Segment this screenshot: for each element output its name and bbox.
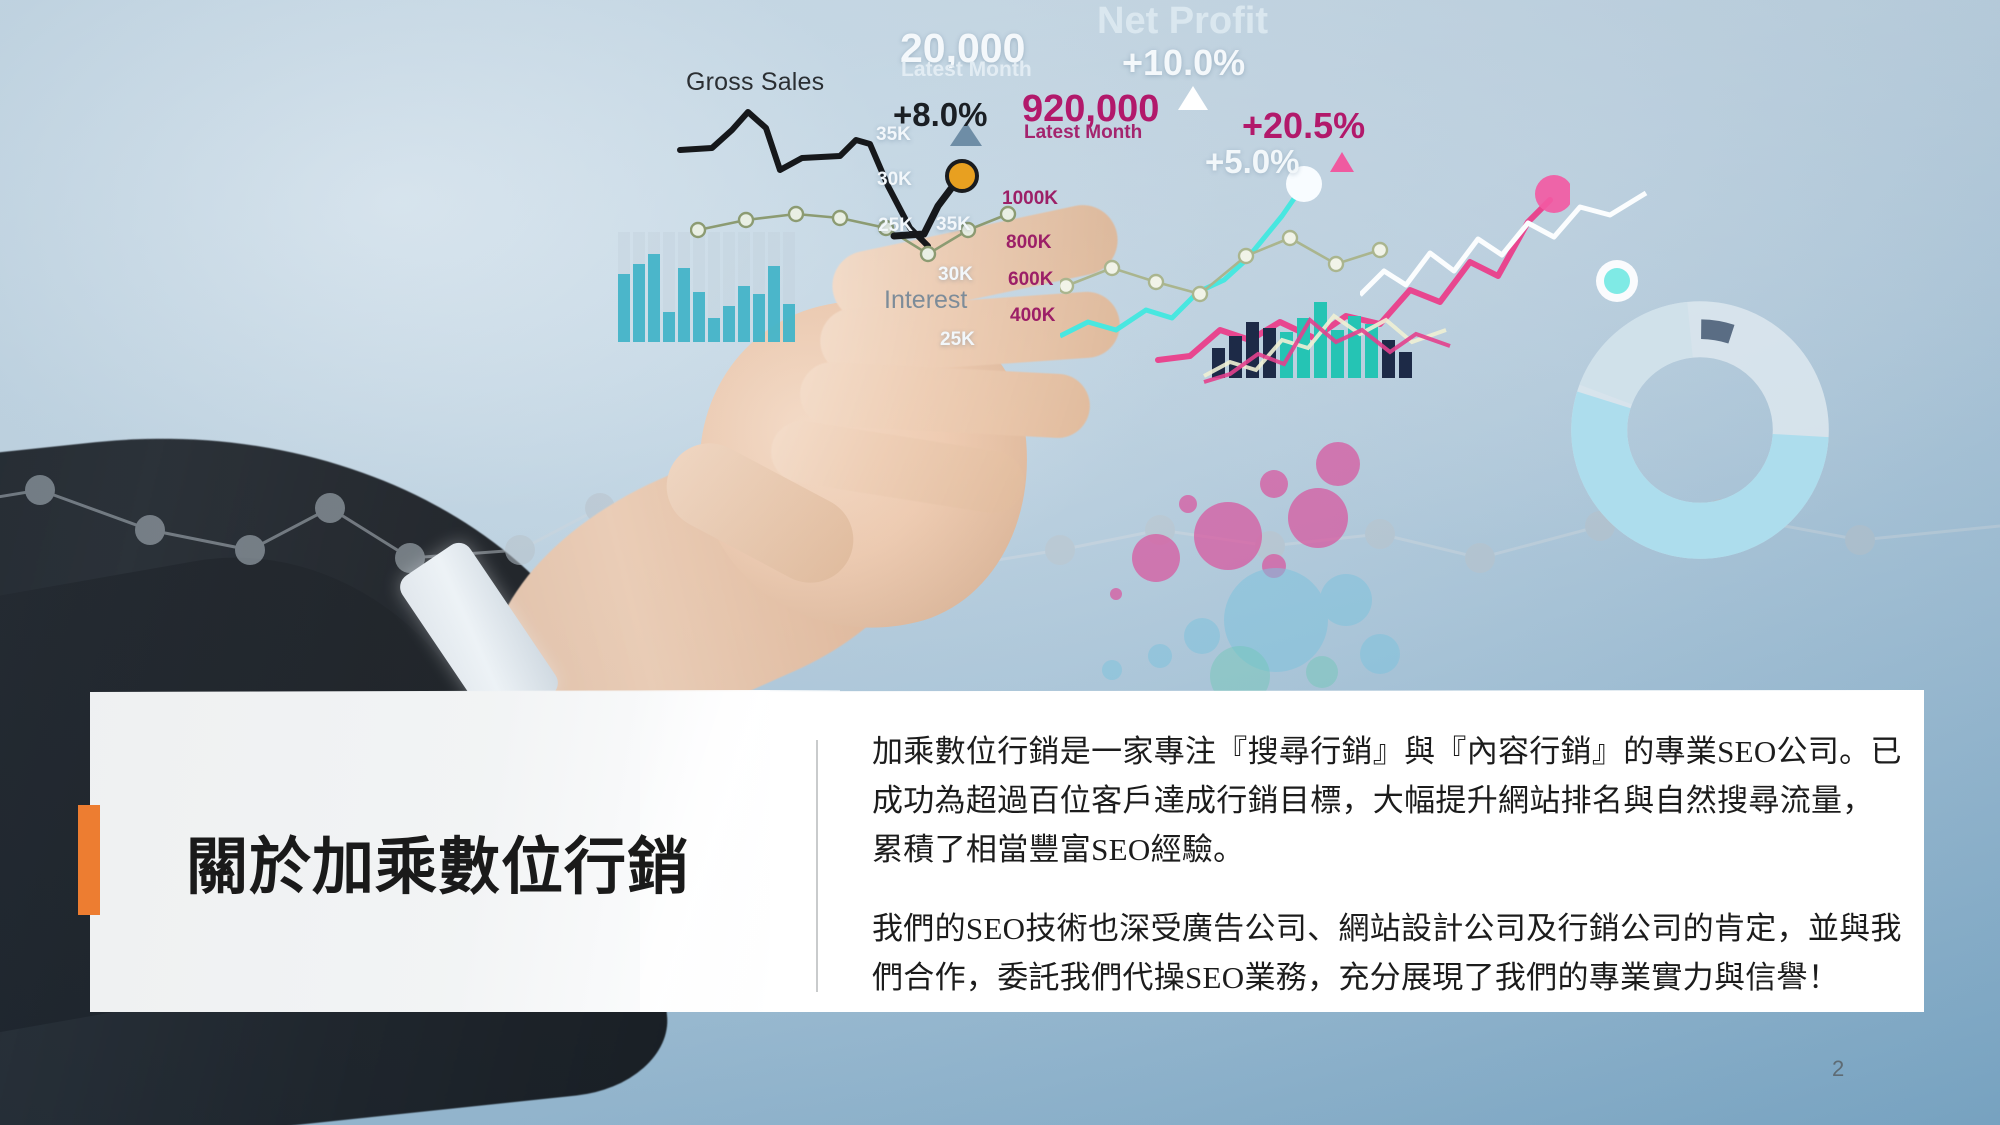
axis-tick-interest-30k: 30K (938, 264, 973, 286)
axis-tick-interest-35k: 35K (936, 214, 971, 236)
overlay-trend-lines (1200, 290, 1460, 386)
value-pct-205: +20.5% (1242, 105, 1365, 147)
value-pct-5: +5.0% (1205, 143, 1300, 181)
axis-tick-gross-35k: 35K (876, 124, 911, 146)
axis-tick-profit-800k: 800K (1006, 232, 1051, 254)
axis-tick-gross-30k: 30K (877, 169, 912, 191)
label-gross-sales: Gross Sales (686, 68, 824, 97)
axis-tick-profit-600k: 600K (1008, 269, 1053, 291)
axis-tick-gross-25k: 25K (878, 215, 913, 237)
up-triangle-pink-icon (1328, 150, 1356, 174)
page-title: 關於加乘數位行銷 (186, 834, 690, 902)
axis-tick-interest-25k: 25K (940, 329, 975, 351)
label-interest: Interest (884, 286, 967, 315)
vertical-divider (816, 740, 818, 992)
body-paragraph-2: 我們的SEO技術也深受廣告公司、網站設計公司及行銷公司的肯定，並與我們合作，委託… (872, 905, 1902, 1003)
bubble-cluster (1060, 440, 1480, 700)
body-paragraph-1: 加乘數位行銷是一家專注『搜尋行銷』與『內容行銷』的專業SEO公司。已成功為超過百… (872, 728, 1902, 875)
value-pct-10: +10.0% (1122, 42, 1245, 84)
axis-tick-profit-400k: 400K (1010, 305, 1055, 327)
label-net-profit: Net Profit (1097, 0, 1268, 43)
body-text-column: 加乘數位行銷是一家專注『搜尋行銷』與『內容行銷』的專業SEO公司。已成功為超過百… (872, 728, 1902, 1003)
slide-canvas: Gross Sales Interest 20,000 Latest Month… (0, 0, 2000, 1125)
caption-latest-month-gross: Latest Month (901, 58, 1032, 82)
page-number: 2 (1832, 1056, 1844, 1082)
donut-chart (1560, 290, 1840, 570)
up-triangle-white-icon (1176, 84, 1210, 112)
accent-bar (78, 805, 100, 915)
axis-tick-profit-1000k: 1000K (1002, 188, 1058, 210)
caption-latest-month-profit: Latest Month (1024, 122, 1142, 144)
